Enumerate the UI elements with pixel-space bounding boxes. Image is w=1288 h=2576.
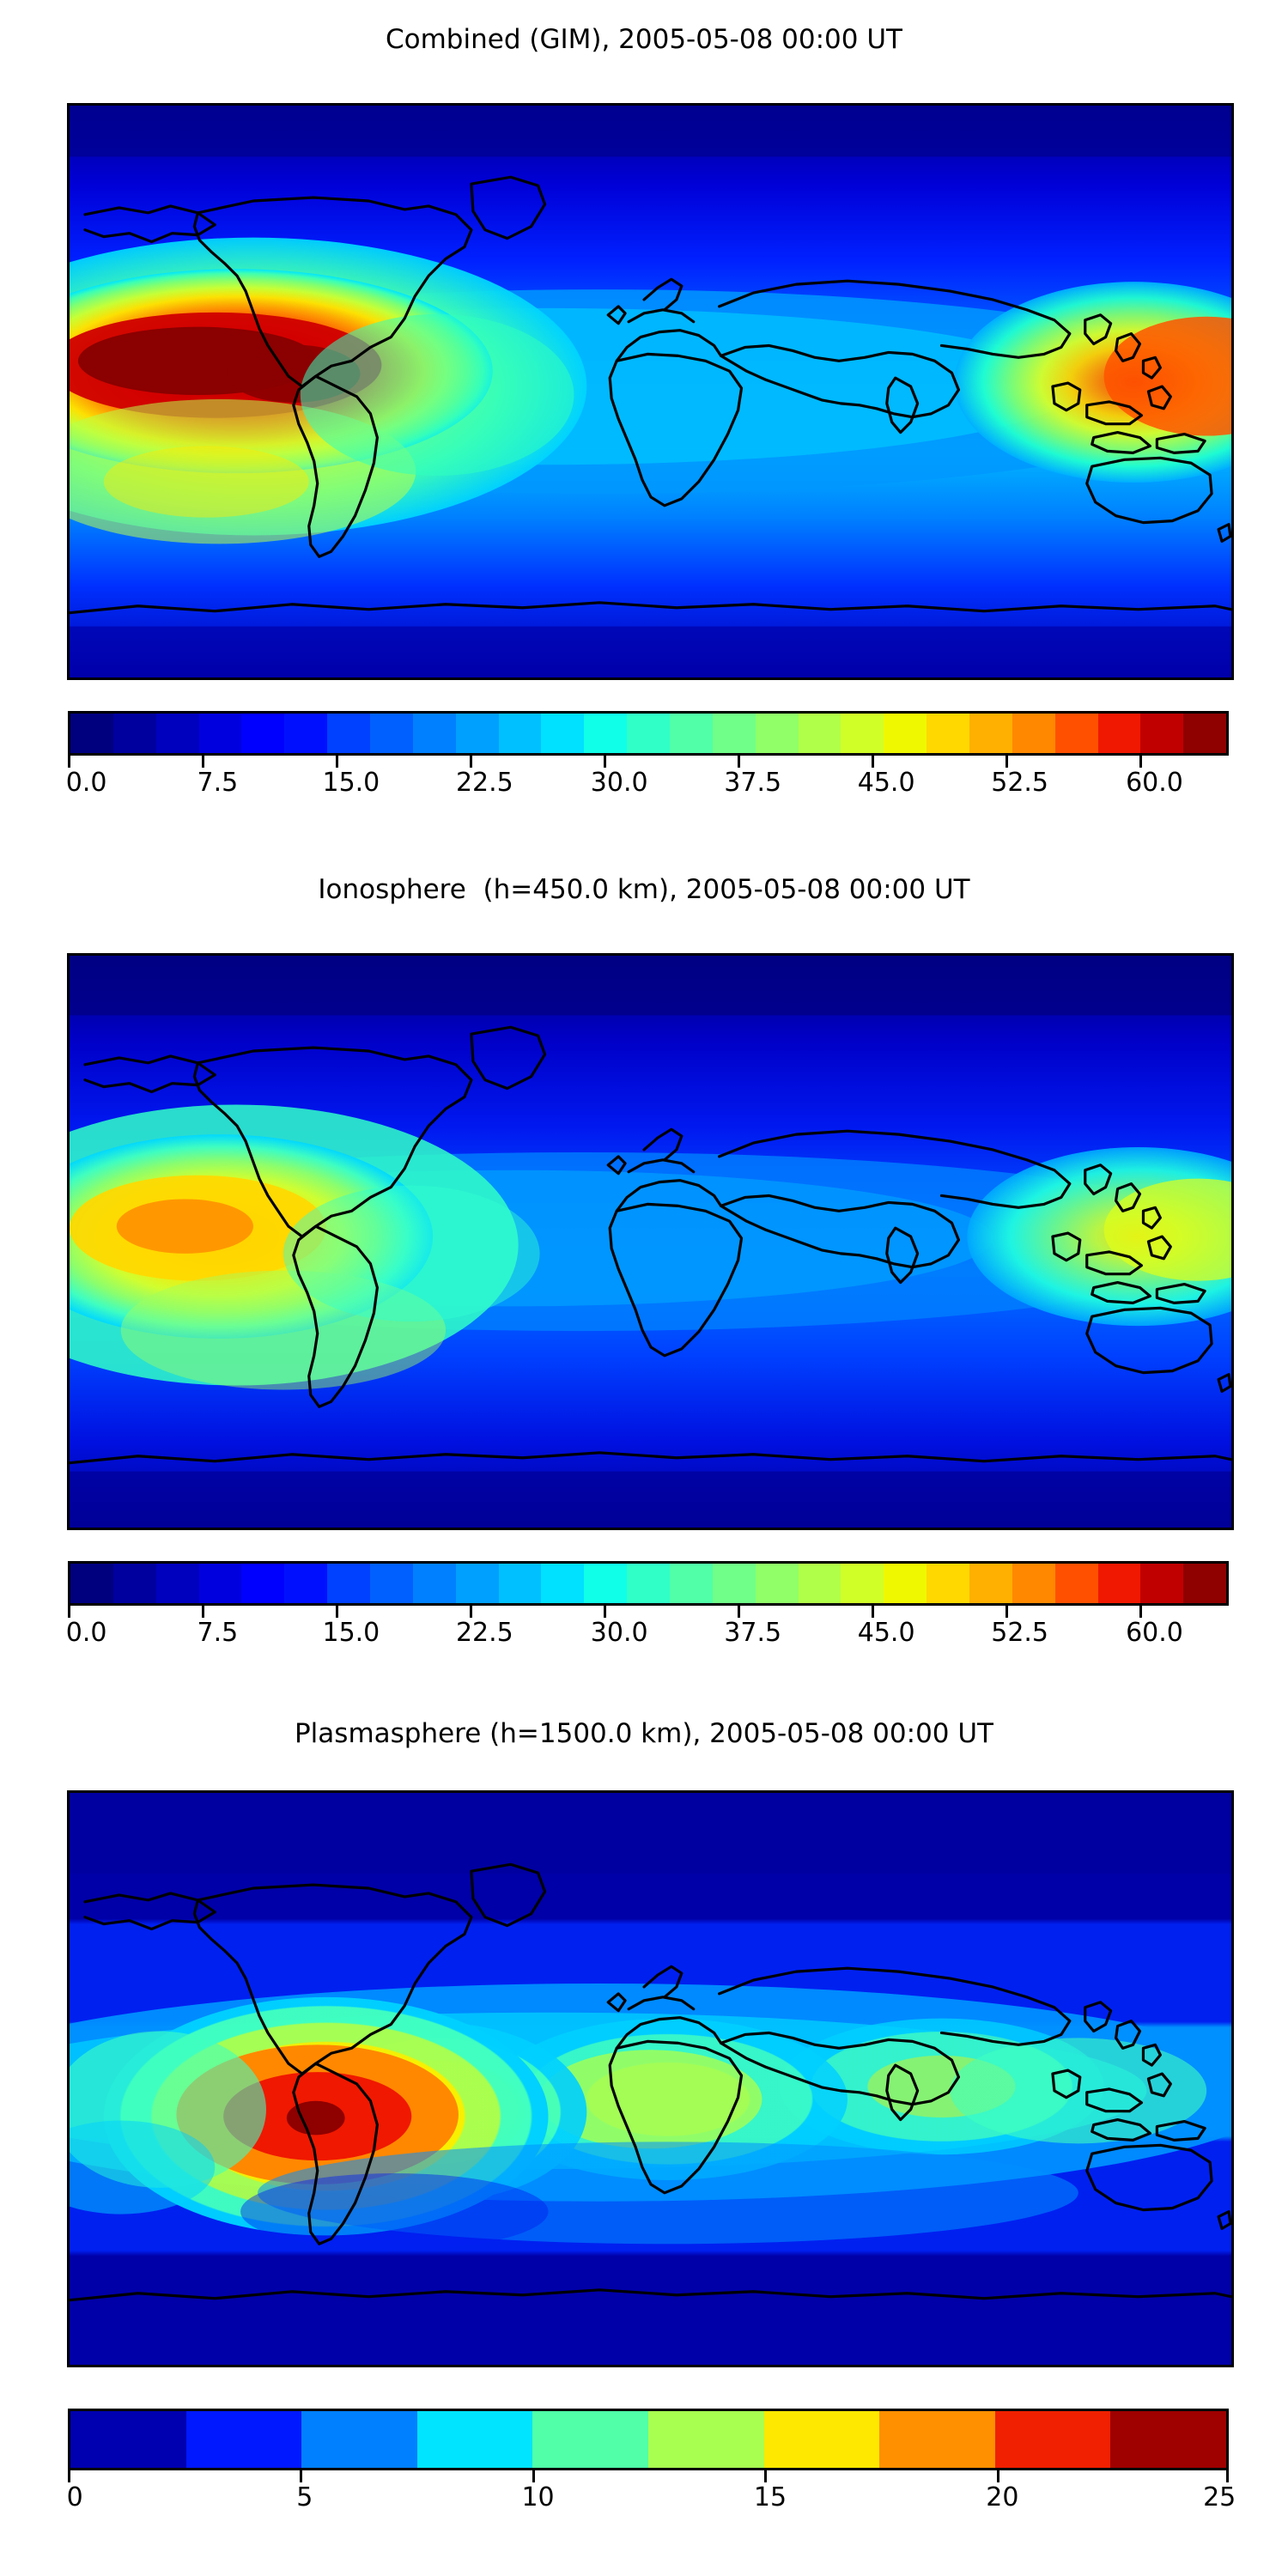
colorbar-tick-label: 15.0 [322, 1618, 380, 1648]
colorbar-ionosphere: 0.0 7.5 15.0 22.5 30.0 37.5 45.0 52.5 60… [68, 1561, 1229, 1652]
colorbar-tick-label: 37.5 [724, 768, 781, 798]
colorbar-labels-plasmasphere: 0 5 10 15 20 25 [68, 2482, 1229, 2517]
map-ionosphere-450 [67, 953, 1234, 1530]
colorbar-combined-gim: 0.0 7.5 15.0 22.5 30.0 37.5 45.0 52.5 60… [68, 711, 1229, 802]
colorbar-tick-label: 15.0 [322, 768, 380, 798]
colorbar-ticks-plasmasphere [68, 2470, 1229, 2482]
colorbar-tick-label: 60.0 [1126, 768, 1183, 798]
colorbar-ticks-combined [68, 756, 1229, 768]
colorbar-tick-label: 10 [521, 2482, 554, 2512]
colorbar-tick-label: 25 [1203, 2482, 1236, 2512]
colorbar-plasmasphere: 0 5 10 15 20 25 [68, 2409, 1229, 2517]
colorbar-tick-label: 0.0 [66, 1618, 107, 1648]
colorbar-tick-label: 22.5 [456, 768, 513, 798]
colorbar-tick-label: 15 [754, 2482, 787, 2512]
colorbar-tick-label: 0 [67, 2482, 83, 2512]
colorbar-gradient-combined [68, 711, 1229, 756]
colorbar-tick-label: 60.0 [1126, 1618, 1183, 1648]
colorbar-tick-label: 7.5 [197, 1618, 239, 1648]
colorbar-tick-label: 30.0 [591, 1618, 648, 1648]
colorbar-tick-label: 20 [986, 2482, 1018, 2512]
colorbar-tick-label: 30.0 [591, 768, 648, 798]
colorbar-tick-label: 0.0 [66, 768, 107, 798]
panel-title-combined: Combined (GIM), 2005-05-08 00:00 UT [0, 24, 1288, 55]
map-plasmasphere-1500 [67, 1790, 1234, 2367]
colorbar-tick-label: 45.0 [858, 1618, 915, 1648]
colorbar-gradient-ionosphere [68, 1561, 1229, 1606]
colorbar-ticks-ionosphere [68, 1606, 1229, 1618]
colorbar-tick-label: 45.0 [858, 768, 915, 798]
map-combined-gim [67, 103, 1234, 680]
colorbar-tick-label: 52.5 [991, 768, 1048, 798]
colorbar-labels-ionosphere: 0.0 7.5 15.0 22.5 30.0 37.5 45.0 52.5 60… [68, 1618, 1229, 1652]
colorbar-gradient-plasmasphere [68, 2409, 1229, 2470]
colorbar-tick-label: 52.5 [991, 1618, 1048, 1648]
colorbar-tick-label: 37.5 [724, 1618, 781, 1648]
tec-map-figure: Combined (GIM), 2005-05-08 00:00 UT [0, 0, 1288, 2576]
colorbar-labels-combined: 0.0 7.5 15.0 22.5 30.0 37.5 45.0 52.5 60… [68, 768, 1229, 802]
colorbar-tick-label: 22.5 [456, 1618, 513, 1648]
panel-title-ionosphere: Ionosphere (h=450.0 km), 2005-05-08 00:0… [0, 874, 1288, 905]
colorbar-tick-label: 7.5 [197, 768, 239, 798]
colorbar-tick-label: 5 [296, 2482, 313, 2512]
panel-title-plasmasphere: Plasmasphere (h=1500.0 km), 2005-05-08 0… [0, 1718, 1288, 1749]
